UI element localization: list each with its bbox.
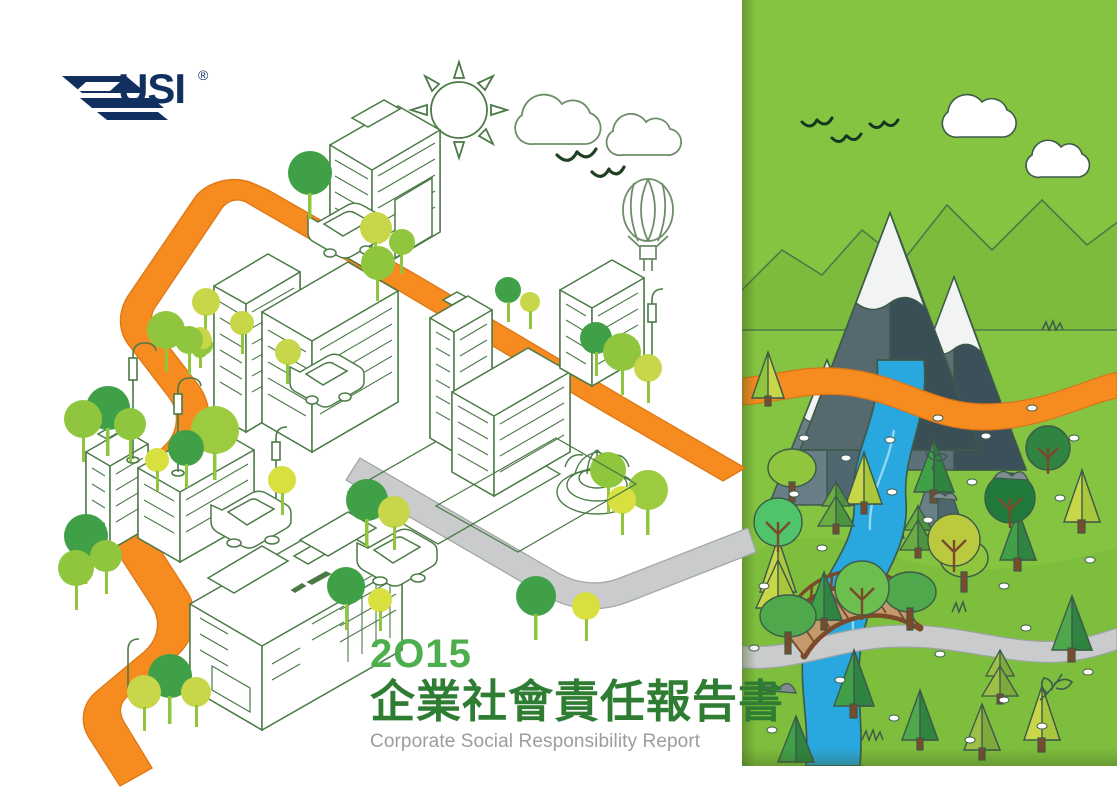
registered-trademark-icon: ® bbox=[198, 67, 209, 83]
tree bbox=[495, 277, 521, 322]
report-year: 2O15 bbox=[370, 632, 784, 676]
nature-illustration bbox=[742, 0, 1117, 766]
logo-wordmark: USI bbox=[118, 65, 185, 112]
tree bbox=[90, 540, 122, 594]
tree bbox=[325, 561, 365, 601]
tree bbox=[516, 576, 556, 640]
tree bbox=[658, 512, 694, 548]
report-title-english: Corporate Social Responsibility Report bbox=[370, 728, 784, 756]
svg-text:®: ® bbox=[198, 67, 209, 83]
report-cover: USI ® 2O15 企業社會責任報告書 Corporate Social Re… bbox=[0, 0, 1117, 790]
usi-logo: USI ® bbox=[58, 58, 223, 128]
title-block: 2O15 企業社會責任報告書 Corporate Social Responsi… bbox=[370, 632, 784, 756]
tree bbox=[127, 675, 161, 731]
cloud-icon bbox=[607, 114, 682, 155]
tree bbox=[459, 385, 485, 411]
tree bbox=[520, 292, 540, 329]
hot-air-balloon-icon bbox=[623, 179, 673, 271]
tree bbox=[58, 550, 94, 610]
tree bbox=[634, 354, 662, 403]
report-title-chinese: 企業社會責任報告書 bbox=[370, 676, 784, 728]
nature-panel bbox=[742, 0, 1117, 766]
svg-text:USI: USI bbox=[118, 65, 185, 112]
usi-logo-mark: USI ® bbox=[58, 58, 223, 128]
tree bbox=[608, 486, 636, 535]
cloud-icon bbox=[515, 95, 600, 145]
